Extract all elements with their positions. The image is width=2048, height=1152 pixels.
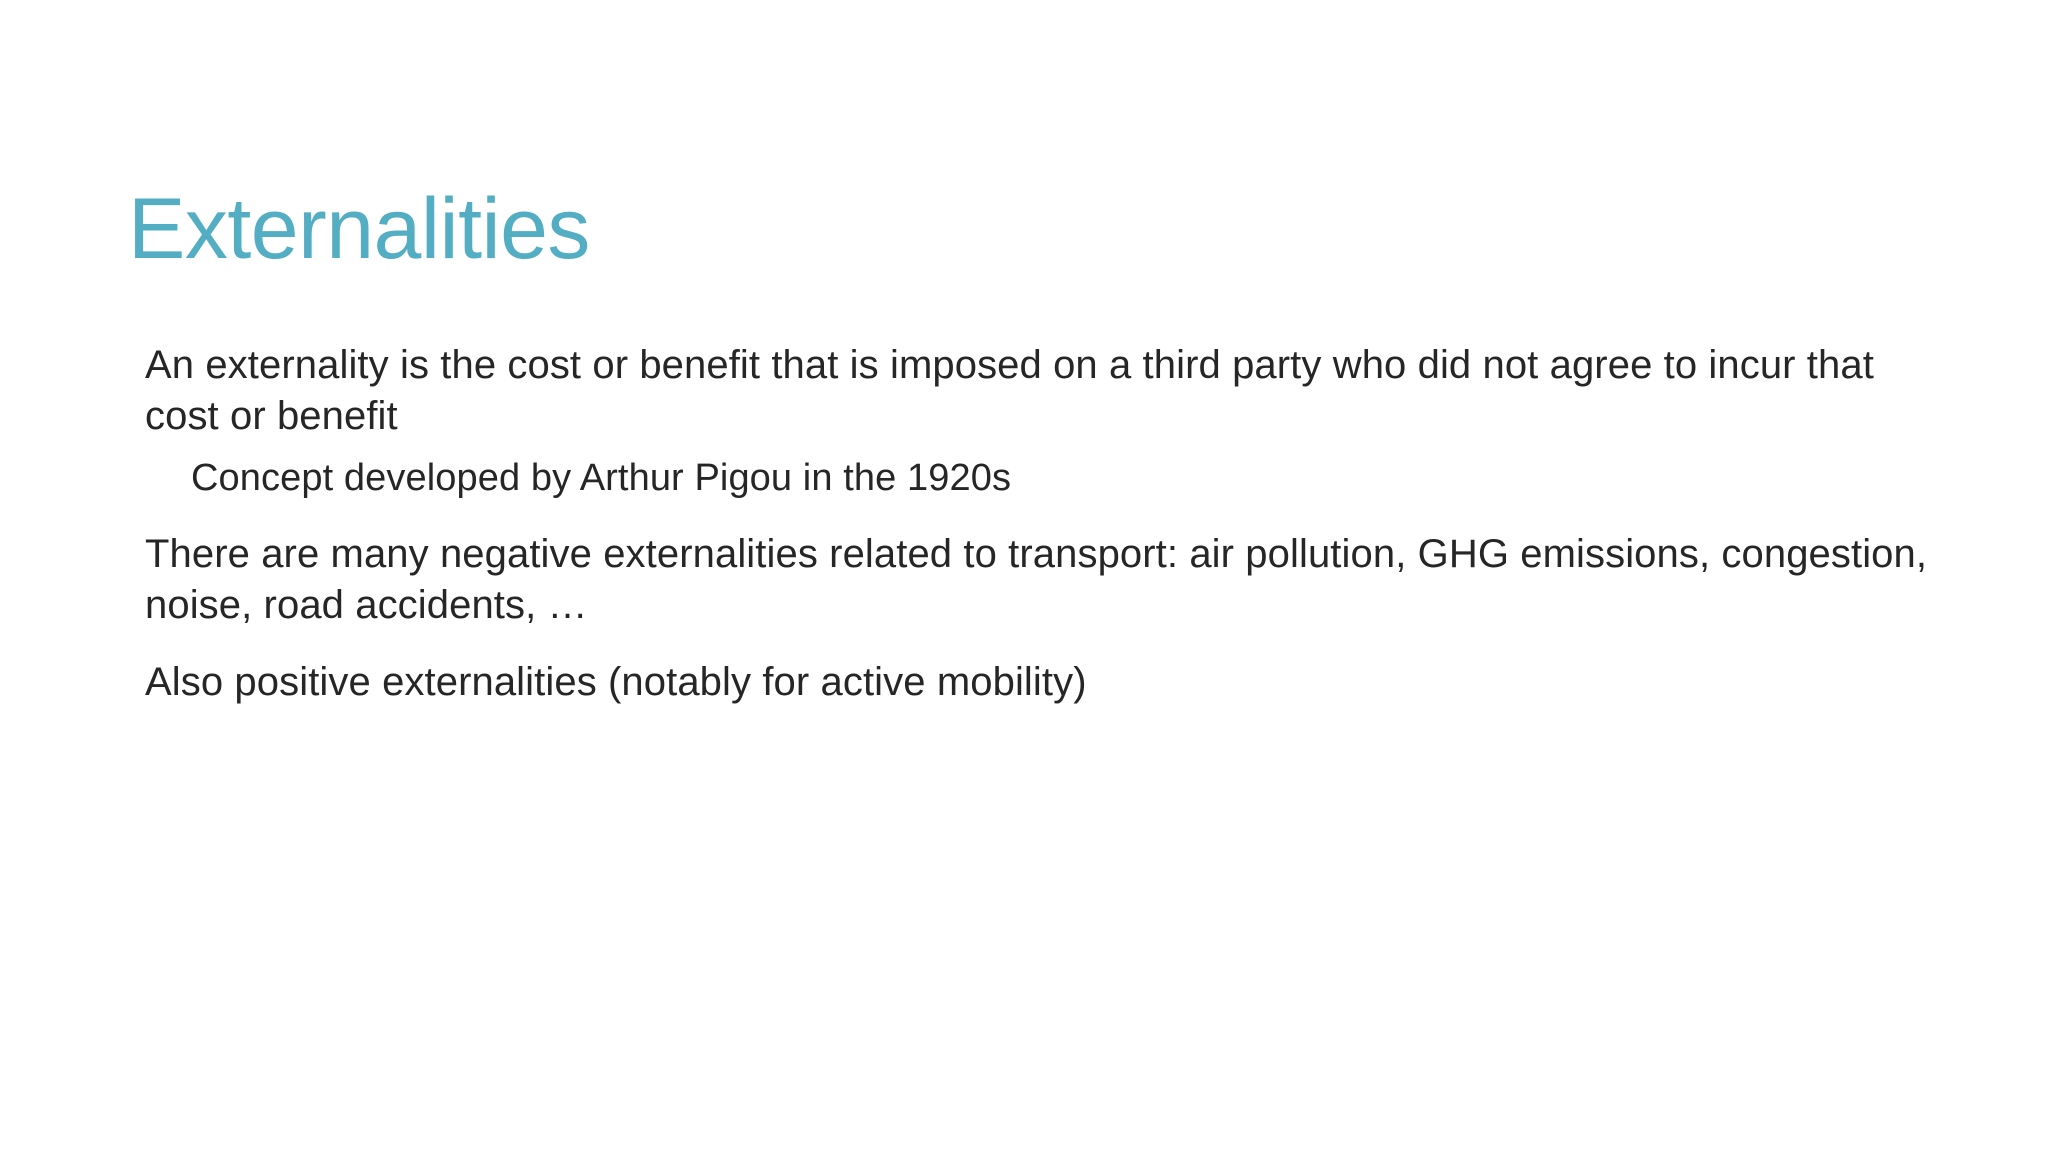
- body-subpoint-pigou: Concept developed by Arthur Pigou in the…: [191, 454, 1935, 503]
- page-title: Externalities: [128, 186, 1928, 272]
- body-paragraph-negative-externalities: There are many negative externalities re…: [145, 529, 1935, 631]
- body-paragraph-positive-externalities: Also positive externalities (notably for…: [145, 657, 1935, 708]
- spacer: [145, 442, 1945, 454]
- slide-body: An externality is the cost or benefit th…: [145, 340, 1945, 709]
- spacer: [145, 631, 1945, 657]
- spacer: [145, 503, 1945, 529]
- body-paragraph-definition: An externality is the cost or benefit th…: [145, 340, 1935, 442]
- slide: Externalities An externality is the cost…: [0, 0, 2048, 1152]
